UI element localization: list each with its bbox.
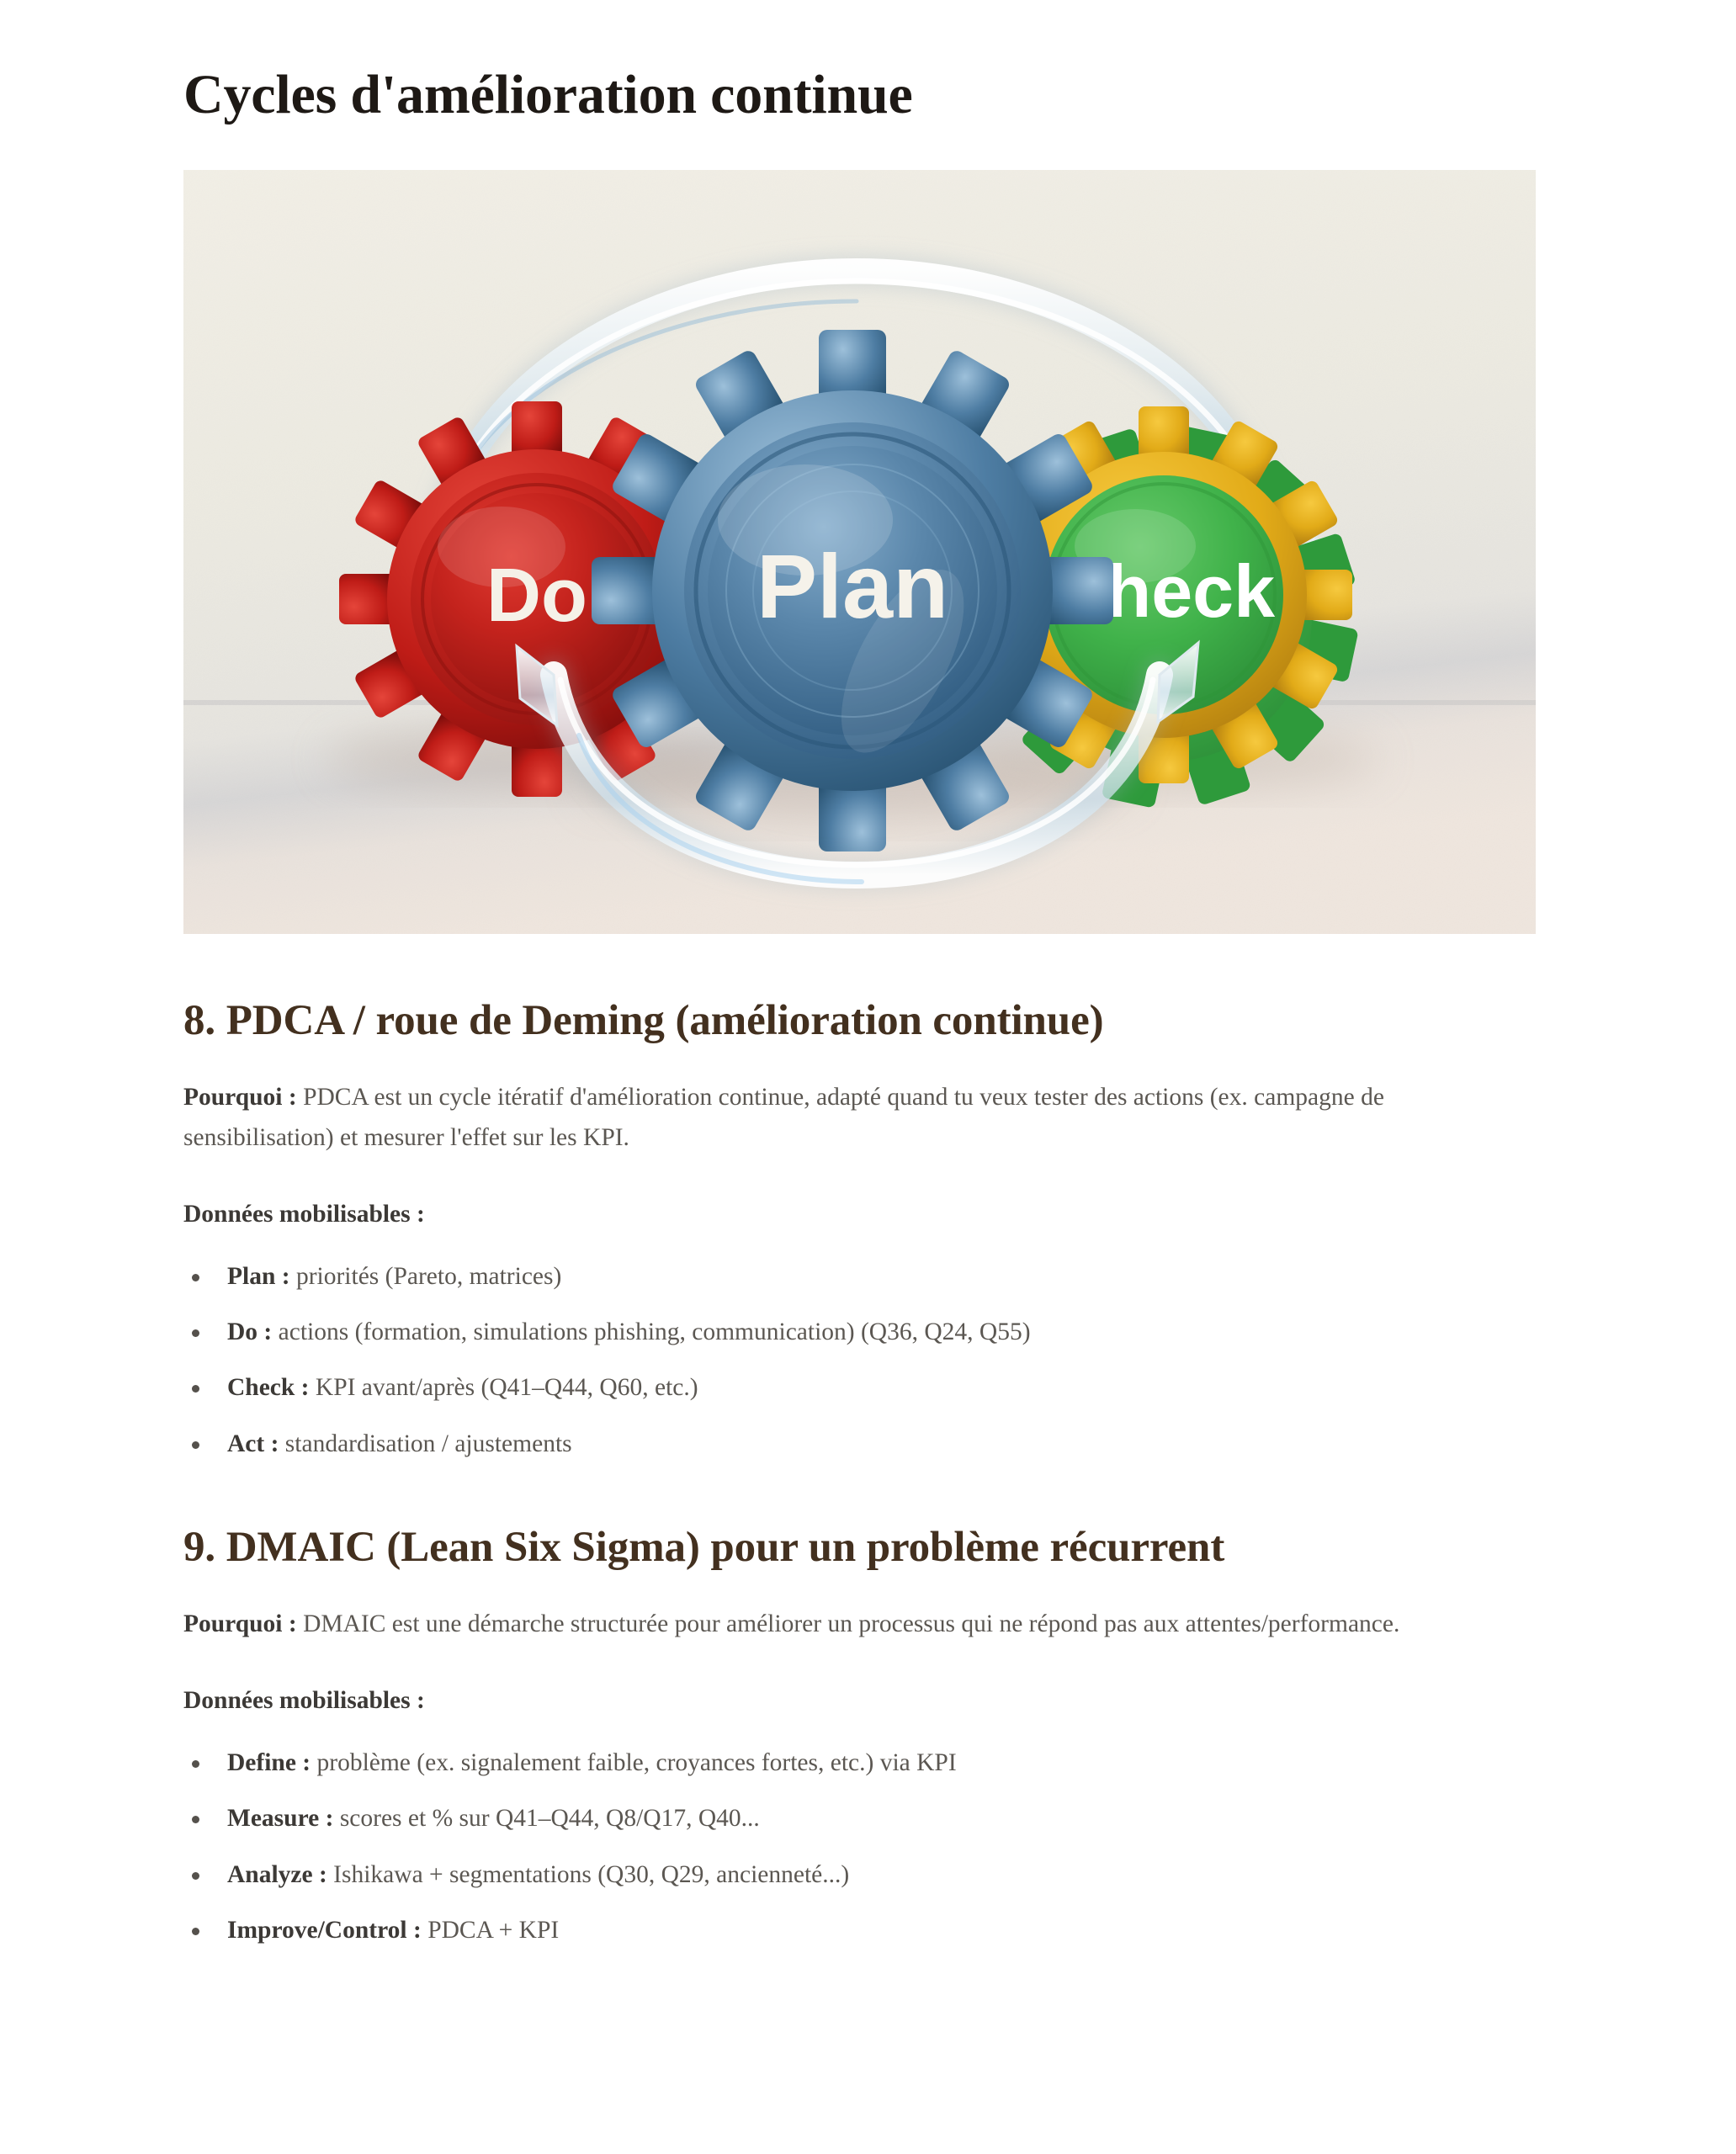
why-label: Pourquoi : (183, 1610, 297, 1637)
list-item: Improve/Control : PDCA + KPI (183, 1912, 1553, 1949)
why-text: PDCA est un cycle itératif d'amélioratio… (183, 1084, 1384, 1151)
bullet-term: Define : (227, 1749, 311, 1776)
bullet-text: PDCA + KPI (422, 1917, 559, 1944)
list-item: Check : KPI avant/après (Q41–Q44, Q60, e… (183, 1369, 1553, 1406)
bullet-term: Check : (227, 1374, 310, 1401)
page-title: Cycles d'amélioration continue (183, 0, 1553, 126)
bullet-text: scores et % sur Q41–Q44, Q8/Q17, Q40... (333, 1805, 759, 1832)
list-item: Define : problème (ex. signalement faibl… (183, 1744, 1553, 1781)
bullet-term: Plan : (227, 1263, 290, 1290)
list-item: Measure : scores et % sur Q41–Q44, Q8/Q1… (183, 1800, 1553, 1837)
list-item: Act : standardisation / ajustements (183, 1425, 1553, 1462)
document-page: Cycles d'amélioration continue (0, 0, 1736, 2154)
bullet-text: actions (formation, simulations phishing… (272, 1318, 1030, 1345)
bullet-text: Ishikawa + segmentations (Q30, Q29, anci… (327, 1861, 849, 1888)
bullet-text: standardisation / ajustements (279, 1430, 571, 1457)
bullet-text: problème (ex. signalement faible, croyan… (311, 1749, 957, 1776)
gear-do-label: Do (486, 554, 587, 638)
bullet-text: priorités (Pareto, matrices) (290, 1263, 562, 1290)
section-pdca-data-label: Données mobilisables : (183, 1196, 1553, 1233)
pdca-gears-illustration: Do (183, 170, 1536, 934)
section-pdca-why: Pourquoi : PDCA est un cycle itératif d'… (183, 1078, 1484, 1159)
bullet-term: Measure : (227, 1805, 333, 1832)
bullet-term: Improve/Control : (227, 1917, 422, 1944)
pdca-gears-figure: Do (183, 170, 1536, 934)
section-heading-pdca: 8. PDCA / roue de Deming (amélioration c… (183, 995, 1553, 1048)
section-dmaic-why: Pourquoi : DMAIC est une démarche struct… (183, 1605, 1484, 1645)
list-item: Analyze : Ishikawa + segmentations (Q30,… (183, 1856, 1553, 1893)
bullet-term: Act : (227, 1430, 279, 1457)
list-item: Do : actions (formation, simulations phi… (183, 1313, 1553, 1350)
bullet-term: Do : (227, 1318, 272, 1345)
section-dmaic-bullet-list: Define : problème (ex. signalement faibl… (183, 1744, 1553, 1949)
bullet-term: Analyze : (227, 1861, 327, 1888)
why-label: Pourquoi : (183, 1084, 297, 1111)
section-pdca-bullet-list: Plan : priorités (Pareto, matrices) Do :… (183, 1258, 1553, 1462)
list-item: Plan : priorités (Pareto, matrices) (183, 1258, 1553, 1295)
section-heading-dmaic: 9. DMAIC (Lean Six Sigma) pour un problè… (183, 1521, 1553, 1574)
why-text: DMAIC est une démarche structurée pour a… (297, 1610, 1400, 1637)
section-dmaic-data-label: Données mobilisables : (183, 1682, 1553, 1719)
gear-plan-label: Plan (757, 535, 948, 637)
bullet-text: KPI avant/après (Q41–Q44, Q60, etc.) (310, 1374, 698, 1401)
